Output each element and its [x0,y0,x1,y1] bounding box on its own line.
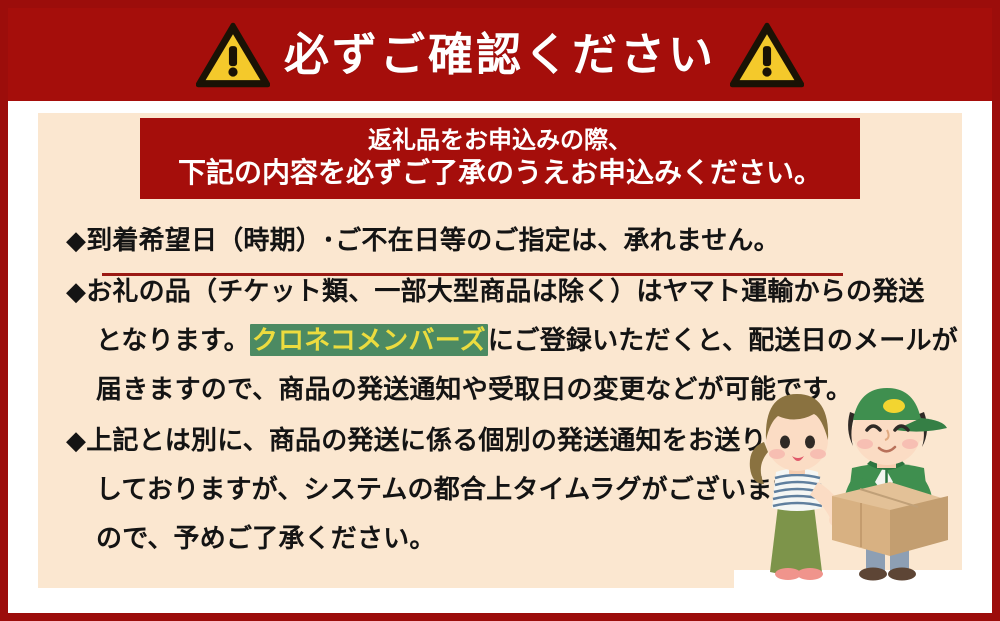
bullet-line-text: 届きますので、商品の発送通知や受取日の変更などが可能です。 [96,374,852,404]
bullet-line-text-post: にご登録いただくと、配送日のメールが [488,325,958,355]
content-panel: 返礼品をお申込みの際、 下記の内容を必ずご了承のうえお申込みください。 ◆到着希… [38,113,962,588]
notice-banner: 返礼品をお申込みの際、 下記の内容を必ずご了承のうえお申込みください。 [140,118,860,199]
first-bullet-underline [102,273,843,276]
notice-line-2: 下記の内容を必ずご了承のうえお申込みください。 [178,157,822,188]
diamond-marker: ◆ [66,267,86,316]
notice-card: 必ずご確認ください 返礼品をお申込みの際、 下記の内容を必ずご了承のうえお申込み… [0,0,1000,621]
page-title: 必ずご確認ください [284,32,716,77]
bullet-list: ◆到着希望日（時期）･ご不在日等のご指定は、承れません。 ◆お礼の品（チケット類… [66,216,946,565]
warning-triangle-icon [730,22,804,88]
bullet-line-text: 上記とは別に、商品の発送に係る個別の発送通知をお送り [86,425,766,455]
diamond-marker: ◆ [66,416,86,465]
bottom-white-band [8,588,992,613]
bullet-item: ◆お礼の品（チケット類、一部大型商品は除く）はヤマト運輸からの発送 となります。… [66,267,946,414]
bullet-line: しておりますが、システムの都合上タイムラグがございます [66,465,946,514]
bullet-item: ◆到着希望日（時期）･ご不在日等のご指定は、承れません。 [66,216,946,265]
bullet-line: となります。クロネコメンバーズにご登録いただくと、配送日のメールが [66,316,946,365]
bullet-line: ◆到着希望日（時期）･ご不在日等のご指定は、承れません。 [66,216,946,265]
bullet-line-text-pre: となります。 [96,325,250,355]
bullet-line: ので、予めご了承ください。 [66,514,946,563]
header-bar: 必ずご確認ください [8,8,992,101]
kuroneko-members-highlight[interactable]: クロネコメンバーズ [250,324,488,356]
bullet-item: ◆上記とは別に、商品の発送に係る個別の発送通知をお送り しておりますが、システム… [66,416,946,563]
bullet-line: 届きますので、商品の発送通知や受取日の変更などが可能です。 [66,365,946,414]
bullet-line-text: 到着希望日（時期）･ご不在日等のご指定は、承れません。 [86,225,780,255]
bullet-line-text: しておりますが、システムの都合上タイムラグがございます [96,474,799,504]
bullet-line-text: ので、予めご了承ください。 [96,523,436,553]
diamond-marker: ◆ [66,216,86,265]
bullet-line: ◆上記とは別に、商品の発送に係る個別の発送通知をお送り [66,416,946,465]
warning-triangle-icon [196,22,270,88]
bullet-line-text: お礼の品（チケット類、一部大型商品は除く）はヤマト運輸からの発送 [86,276,924,306]
notice-line-1: 返礼品をお申込みの際、 [368,128,632,155]
